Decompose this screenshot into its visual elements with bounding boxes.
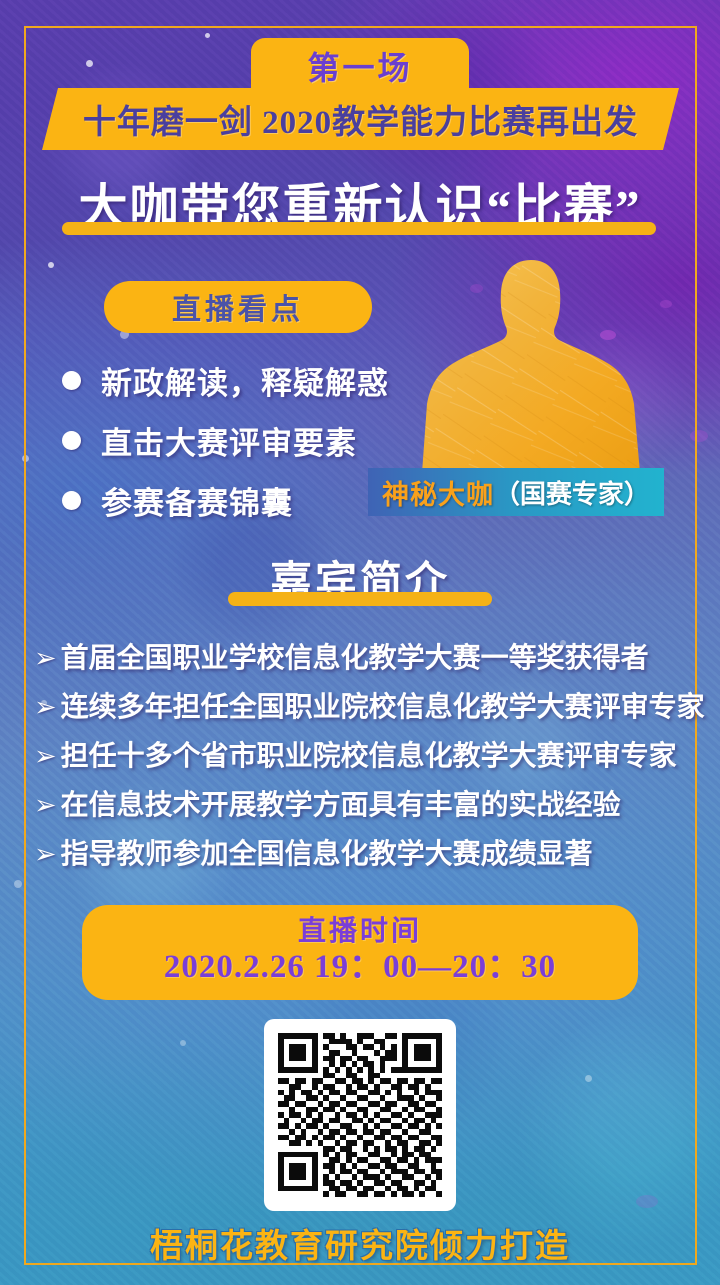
schedule-box: 直播时间 2020.2.26 19：00—20：30	[82, 905, 638, 1000]
highlights-pill: 直播看点	[104, 281, 372, 333]
ribbon-banner: 十年磨一剑 2020教学能力比赛再出发	[42, 88, 679, 150]
speaker-name-secondary: （国赛专家）	[494, 474, 650, 511]
arrow-bullet-icon: ➢	[34, 792, 57, 819]
list-item: ➢ 担任十多个省市职业院校信息化教学大赛评审专家	[34, 734, 690, 783]
bullet-dot-icon	[62, 431, 81, 450]
decor-speck	[86, 60, 93, 67]
ribbon-title: 十年磨一剑 2020教学能力比赛再出发	[83, 95, 638, 143]
highlights-pill-label: 直播看点	[172, 286, 304, 328]
list-item: ➢ 指导教师参加全国信息化教学大赛成绩显著	[34, 832, 690, 881]
guest-bullet-text: 在信息技术开展教学方面具有丰富的实战经验	[61, 783, 621, 823]
decor-blob	[660, 300, 672, 308]
session-tab-label: 第一场	[307, 43, 412, 89]
list-item: 新政解读，释疑解惑	[62, 352, 432, 408]
footer-text: 梧桐花教育研究院倾力打造	[0, 1219, 720, 1267]
guest-section-underline	[228, 592, 492, 606]
guest-bullet-text: 担任十多个省市职业院校信息化教学大赛评审专家	[61, 734, 677, 774]
guest-bullet-text: 指导教师参加全国信息化教学大赛成绩显著	[61, 832, 593, 872]
arrow-bullet-icon: ➢	[34, 841, 57, 868]
poster-canvas: 第一场 十年磨一剑 2020教学能力比赛再出发 大咖带您重新认识“比赛” 直播看…	[0, 0, 720, 1285]
decor-blob	[690, 430, 708, 442]
arrow-bullet-icon: ➢	[34, 645, 57, 672]
person-silhouette-icon	[422, 258, 640, 473]
schedule-value: 2020.2.26 19：00—20：30	[164, 947, 556, 988]
speaker-name-primary: 神秘大咖	[382, 473, 494, 512]
highlight-text: 直击大赛评审要素	[101, 418, 357, 463]
list-item: ➢ 首届全国职业学校信息化教学大赛一等奖获得者	[34, 636, 690, 685]
session-tab: 第一场	[251, 38, 469, 94]
qr-code-icon[interactable]	[278, 1033, 442, 1197]
decor-blob	[636, 1195, 658, 1208]
bullet-dot-icon	[62, 491, 81, 510]
arrow-bullet-icon: ➢	[34, 743, 57, 770]
decor-speck	[180, 1040, 186, 1046]
bullet-dot-icon	[62, 371, 81, 390]
decor-speck	[585, 1075, 592, 1082]
highlight-text: 新政解读，释疑解惑	[101, 358, 389, 403]
list-item: ➢ 连续多年担任全国职业院校信息化教学大赛评审专家	[34, 685, 690, 734]
schedule-label: 直播时间	[298, 917, 422, 946]
guest-bullet-text: 首届全国职业学校信息化教学大赛一等奖获得者	[61, 636, 649, 676]
list-item: 直击大赛评审要素	[62, 412, 432, 468]
decor-speck	[14, 880, 22, 888]
headline-underline	[62, 222, 656, 235]
decor-speck	[48, 262, 54, 268]
speaker-name-bar: 神秘大咖 （国赛专家）	[368, 468, 664, 516]
arrow-bullet-icon: ➢	[34, 694, 57, 721]
footer: 梧桐花教育研究院倾力打造	[0, 1219, 720, 1267]
decor-speck	[205, 33, 210, 38]
list-item: ➢ 在信息技术开展教学方面具有丰富的实战经验	[34, 783, 690, 832]
guest-bullet-list: ➢ 首届全国职业学校信息化教学大赛一等奖获得者 ➢ 连续多年担任全国职业院校信息…	[34, 636, 690, 881]
decor-speck	[22, 455, 29, 462]
qr-code-panel[interactable]	[264, 1019, 456, 1211]
guest-bullet-text: 连续多年担任全国职业院校信息化教学大赛评审专家	[61, 685, 705, 725]
highlight-text: 参赛备赛锦囊	[101, 478, 293, 523]
